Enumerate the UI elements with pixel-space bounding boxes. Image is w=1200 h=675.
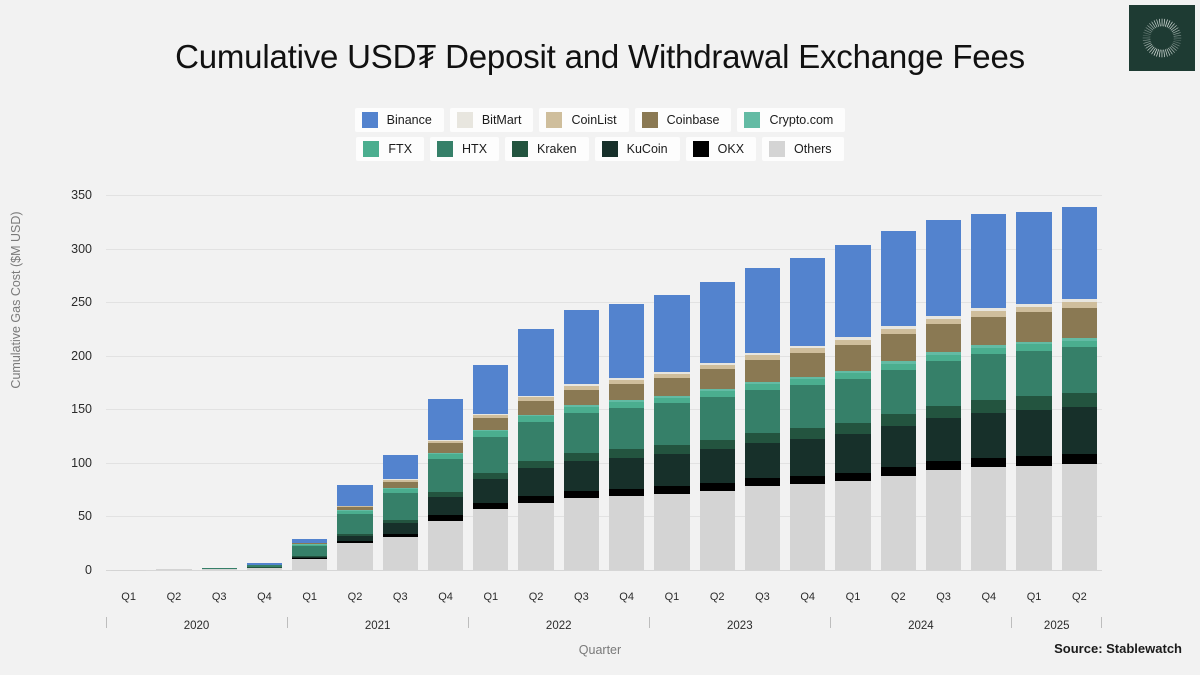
bar-segment-others[interactable] [835,481,870,570]
y-axis-tick-label: 0 [85,563,92,577]
legend-label: Crypto.com [769,113,833,127]
legend-label: BitMart [482,113,522,127]
bar-segment-binance[interactable] [337,485,372,505]
y-axis-tick-label: 100 [71,456,92,470]
bar-segment-others[interactable] [337,543,372,570]
bar-segment-coinbase[interactable] [1016,312,1051,341]
bar-segment-okx[interactable] [971,458,1006,468]
bar-segment-binance[interactable] [790,258,825,346]
gridline [106,570,1102,571]
legend-swatch-icon [642,112,658,128]
bar-segment-htx[interactable] [383,493,418,520]
year-separator-tick [1011,617,1012,628]
bar-segment-others[interactable] [564,498,599,570]
chart-page: Cumulative USD₮ Deposit and Withdrawal E… [0,0,1200,675]
bar-segment-binance[interactable] [700,282,735,362]
bar-segment-okx[interactable] [790,476,825,484]
x-axis-tick-label: Q2 [529,591,544,603]
bar-segment-htx[interactable] [292,546,327,556]
x-axis-year-labels: 202020212022202320242025 [106,617,1102,639]
legend-swatch-icon [744,112,760,128]
bar-segment-htx[interactable] [835,379,870,423]
bar-segment-kucoin[interactable] [971,413,1006,458]
bar-segment-kraken[interactable] [745,433,780,443]
x-axis-tick-label: Q2 [891,591,906,603]
bar-segment-htx[interactable] [971,354,1006,400]
legend-item-okx[interactable]: OKX [686,137,756,161]
bar-segment-binance[interactable] [654,295,689,371]
bar-segment-kraken[interactable] [790,428,825,439]
x-axis-year-label: 2022 [546,620,572,632]
x-axis-tick-label: Q2 [1072,591,1087,603]
legend-swatch-icon [437,141,453,157]
bar-column[interactable] [247,563,282,570]
x-axis-tick-label: Q3 [936,591,951,603]
bar-segment-htx[interactable] [1062,347,1097,393]
legend-item-kraken[interactable]: Kraken [505,137,589,161]
bar-segment-coinbase[interactable] [790,353,825,377]
legend-swatch-icon [546,112,562,128]
x-axis-tick-label: Q4 [438,591,453,603]
x-axis-tick-label: Q4 [800,591,815,603]
bar-segment-kucoin[interactable] [1062,407,1097,454]
y-axis-tick-label: 200 [71,349,92,363]
bar-segment-kraken[interactable] [654,445,689,454]
bar-segment-kucoin[interactable] [700,449,735,483]
bar-segment-kucoin[interactable] [835,434,870,473]
year-separator-tick [106,617,107,628]
bar-segment-kraken[interactable] [835,423,870,434]
legend-item-bitmart[interactable]: BitMart [450,108,534,132]
x-axis-year-label: 2024 [908,620,934,632]
bar-segment-htx[interactable] [609,408,644,449]
bar-column[interactable] [202,568,237,570]
bar-segment-kucoin[interactable] [926,418,961,461]
bar-segment-kraken[interactable] [700,440,735,450]
bar-segment-binance[interactable] [564,310,599,384]
bar-segment-others[interactable] [745,486,780,570]
y-axis-title: Cumulative Gas Cost ($M USD) [9,211,23,388]
bar-segment-kucoin[interactable] [790,439,825,476]
bar-segment-others[interactable] [926,470,961,570]
x-axis-year-label: 2020 [184,620,210,632]
legend-swatch-icon [457,112,473,128]
bar-column[interactable] [926,220,961,570]
bar-segment-others[interactable] [202,569,237,570]
bar-column[interactable] [835,245,870,570]
bar-segment-binance[interactable] [745,268,780,353]
x-axis-tick-label: Q1 [302,591,317,603]
bar-column[interactable] [1062,207,1097,570]
bar-segment-others[interactable] [292,559,327,570]
x-axis-quarter-labels: Q1Q2Q3Q4Q1Q2Q3Q4Q1Q2Q3Q4Q1Q2Q3Q4Q1Q2Q3Q4… [106,591,1102,611]
bar-segment-binance[interactable] [473,365,508,414]
legend-row-secondary: FTXHTXKrakenKuCoinOKXOthers [0,137,1200,161]
legend-item-kucoin[interactable]: KuCoin [595,137,680,161]
bar-segment-coinbase[interactable] [926,324,961,352]
bar-segment-okx[interactable] [1062,454,1097,464]
x-axis-year-label: 2025 [1044,620,1070,632]
legend-item-binance[interactable]: Binance [355,108,444,132]
bar-segment-kucoin[interactable] [473,479,508,503]
y-axis-tick-label: 300 [71,242,92,256]
bar-segment-kraken[interactable] [881,414,916,426]
bar-column[interactable] [745,268,780,570]
bar-segment-coinbase[interactable] [428,443,463,453]
legend-swatch-icon [602,141,618,157]
legend-item-crypto-com[interactable]: Crypto.com [737,108,845,132]
x-axis-tick-label: Q1 [483,591,498,603]
bar-segment-htx[interactable] [654,403,689,445]
bar-segment-okx[interactable] [881,467,916,476]
bar-segment-kraken[interactable] [1016,396,1051,409]
y-axis-tick-label: 150 [71,402,92,416]
bar-segment-others[interactable] [1016,466,1051,570]
bar-segment-kucoin[interactable] [428,497,463,515]
bar-segment-htx[interactable] [337,514,372,534]
bar-segment-others[interactable] [156,569,191,570]
legend-row-primary: BinanceBitMartCoinListCoinbaseCrypto.com [0,108,1200,132]
bar-segment-others[interactable] [383,537,418,570]
bar-segment-okx[interactable] [926,461,961,470]
bar-segment-binance[interactable] [518,329,553,395]
bar-segment-kucoin[interactable] [564,461,599,491]
legend-label: Binance [387,113,432,127]
bar-segment-okx[interactable] [1016,456,1051,466]
bar-segment-others[interactable] [428,521,463,570]
bar-column[interactable] [292,539,327,570]
legend-item-coinlist[interactable]: CoinList [539,108,628,132]
bar-segment-kraken[interactable] [971,400,1006,413]
bar-segment-htx[interactable] [1016,351,1051,397]
y-axis-tick-label: 250 [71,295,92,309]
bar-segment-binance[interactable] [1062,207,1097,299]
bar-column[interactable] [383,455,418,571]
x-axis-tick-label: Q2 [710,591,725,603]
bar-segment-htx[interactable] [700,397,735,439]
legend-item-others[interactable]: Others [762,137,844,161]
legend-label: KuCoin [627,142,668,156]
year-separator-tick [1101,617,1102,628]
bar-segment-others[interactable] [473,509,508,570]
bar-segment-coinbase[interactable] [518,401,553,415]
x-axis-tick-label: Q3 [755,591,770,603]
bar-segment-okx[interactable] [609,489,644,496]
bar-segment-others[interactable] [971,467,1006,570]
x-axis-tick-label: Q4 [257,591,272,603]
page-title: Cumulative USD₮ Deposit and Withdrawal E… [0,38,1200,76]
bar-segment-htx[interactable] [473,437,508,473]
bar-column[interactable] [609,304,644,570]
bar-segment-coinbase[interactable] [971,317,1006,346]
bar-segment-kucoin[interactable] [881,426,916,467]
bar-segment-others[interactable] [518,503,553,571]
bar-segment-binance[interactable] [971,214,1006,308]
bar-segment-htx[interactable] [428,459,463,492]
legend-item-coinbase[interactable]: Coinbase [635,108,732,132]
x-axis-tick-label: Q1 [846,591,861,603]
bar-column[interactable] [337,485,372,570]
legend-item-ftx[interactable]: FTX [356,137,424,161]
x-axis-tick-label: Q3 [574,591,589,603]
bar-segment-coinbase[interactable] [609,384,644,401]
bar-segment-others[interactable] [1062,464,1097,570]
bar-segment-binance[interactable] [609,304,644,378]
legend-swatch-icon [512,141,528,157]
legend-swatch-icon [769,141,785,157]
bar-segment-others[interactable] [247,568,282,570]
legend-label: CoinList [571,113,616,127]
bar-segment-okx[interactable] [745,478,780,486]
bar-segment-okx[interactable] [835,473,870,482]
y-axis-tick-label: 50 [78,509,92,523]
x-axis-tick-label: Q4 [619,591,634,603]
bar-column[interactable] [428,399,463,570]
bar-segment-kraken[interactable] [1062,393,1097,407]
x-axis-tick-label: Q1 [121,591,136,603]
bar-segment-htx[interactable] [564,413,599,454]
x-axis-year-label: 2021 [365,620,391,632]
bar-segment-others[interactable] [881,476,916,570]
bar-segment-coinbase[interactable] [654,378,689,396]
bar-segment-others[interactable] [654,494,689,570]
year-separator-tick [830,617,831,628]
bar-segment-kraken[interactable] [926,406,961,418]
legend-swatch-icon [693,141,709,157]
bar-segment-okx[interactable] [700,483,735,491]
legend-swatch-icon [363,141,379,157]
legend-swatch-icon [362,112,378,128]
bar-segment-kucoin[interactable] [745,443,780,478]
bar-segment-others[interactable] [700,491,735,570]
bar-segment-kucoin[interactable] [518,468,553,496]
source-note: Source: Stablewatch [1054,641,1182,656]
bar-segment-okx[interactable] [564,491,599,498]
bar-segment-kraken[interactable] [609,449,644,458]
x-axis-tick-label: Q3 [212,591,227,603]
bar-segment-kucoin[interactable] [383,523,418,534]
bar-segment-htx[interactable] [881,370,916,414]
bar-segment-coinbase[interactable] [835,345,870,371]
bar-column[interactable] [518,329,553,570]
legend-label: Coinbase [667,113,720,127]
bar-column[interactable] [700,282,735,570]
bar-column[interactable] [971,214,1006,570]
x-axis-year-label: 2023 [727,620,753,632]
bar-segment-kucoin[interactable] [1016,410,1051,456]
legend-label: OKX [718,142,744,156]
year-separator-tick [649,617,650,628]
bar-segment-coinbase[interactable] [881,334,916,361]
bar-column[interactable] [881,231,916,570]
legend-label: FTX [388,142,412,156]
chart-legend: BinanceBitMartCoinListCoinbaseCrypto.com… [0,108,1200,166]
legend-label: Others [794,142,832,156]
bar-segment-kucoin[interactable] [609,458,644,489]
bar-segment-kraken[interactable] [518,461,553,469]
bar-segment-htx[interactable] [790,385,825,428]
bar-segment-kucoin[interactable] [654,454,689,486]
x-axis-tick-label: Q2 [167,591,182,603]
bar-column[interactable] [473,365,508,570]
x-axis-tick-label: Q3 [393,591,408,603]
bar-segment-others[interactable] [609,496,644,570]
bar-segment-coinbase[interactable] [473,418,508,430]
bar-segment-binance[interactable] [383,455,418,480]
bar-segment-binance[interactable] [835,245,870,337]
legend-label: HTX [462,142,487,156]
x-axis-tick-label: Q2 [348,591,363,603]
x-axis-tick-label: Q1 [1027,591,1042,603]
bar-column[interactable] [1016,212,1051,571]
bar-segment-coinbase[interactable] [564,390,599,406]
x-axis-tick-label: Q4 [981,591,996,603]
bar-segment-okx[interactable] [654,486,689,494]
bar-segment-others[interactable] [790,484,825,570]
x-axis-title: Quarter [0,643,1200,657]
bar-segment-binance[interactable] [428,399,463,440]
bar-column[interactable] [654,295,689,570]
bar-column[interactable] [564,310,599,570]
bar-column[interactable] [790,258,825,570]
bar-segment-coinbase[interactable] [700,369,735,389]
y-axis-tick-label: 350 [71,188,92,202]
bar-segment-kraken[interactable] [564,453,599,461]
bar-segment-binance[interactable] [926,220,961,316]
bar-segment-coinbase[interactable] [745,360,780,383]
plot-area [106,195,1102,590]
x-axis-tick-label: Q1 [665,591,680,603]
bar-segment-binance[interactable] [881,231,916,326]
bar-series-container [106,195,1102,570]
year-separator-tick [287,617,288,628]
legend-item-htx[interactable]: HTX [430,137,499,161]
year-separator-tick [468,617,469,628]
legend-label: Kraken [537,142,577,156]
bar-segment-htx[interactable] [926,361,961,406]
bar-column[interactable] [156,569,191,570]
bar-segment-htx[interactable] [518,422,553,461]
bar-segment-binance[interactable] [1016,212,1051,304]
bar-segment-htx[interactable] [745,390,780,433]
bar-segment-coinbase[interactable] [1062,308,1097,338]
